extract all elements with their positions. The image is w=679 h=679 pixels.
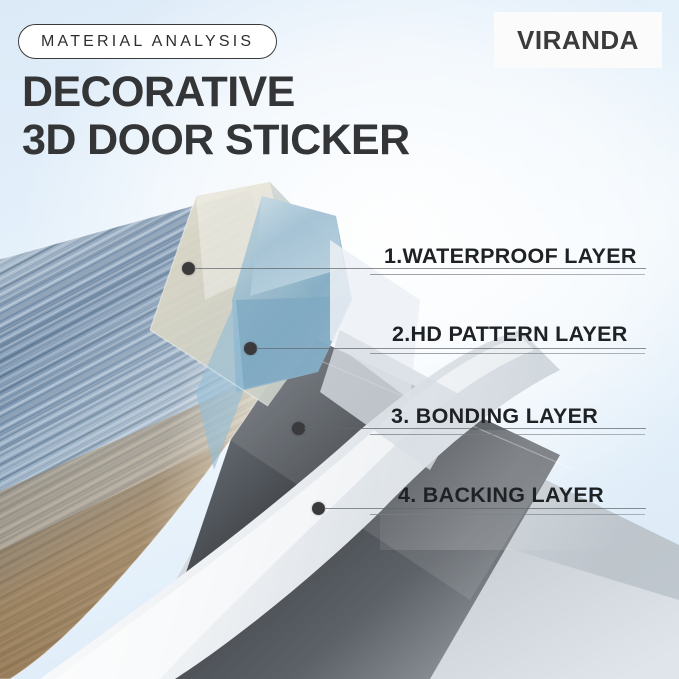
title-line-1: DECORATIVE (22, 68, 295, 116)
callout-underline-4 (370, 514, 645, 515)
callout-leader-line-4 (324, 508, 646, 509)
callout-underline-1 (370, 274, 645, 275)
callout-label-3: 3. BONDING LAYER (391, 404, 598, 429)
infographic-canvas: MATERIAL ANALYSIS DECORATIVE 3D DOOR STI… (0, 0, 679, 679)
material-analysis-badge: MATERIAL ANALYSIS (18, 24, 277, 59)
brand-logo-text: VIRANDA (517, 25, 639, 56)
brand-logo: VIRANDA (494, 12, 662, 68)
callout-label-2: 2.HD PATTERN LAYER (392, 322, 628, 347)
callout-label-1: 1.WATERPROOF LAYER (384, 244, 637, 269)
title-line-2: 3D DOOR STICKER (22, 116, 410, 164)
callout-label-4: 4. BACKING LAYER (398, 483, 604, 508)
callout-leader-line-2 (256, 348, 646, 349)
callout-underline-3 (370, 434, 645, 435)
callout-underline-2 (370, 353, 645, 354)
page-title: DECORATIVE 3D DOOR STICKER (22, 68, 410, 164)
